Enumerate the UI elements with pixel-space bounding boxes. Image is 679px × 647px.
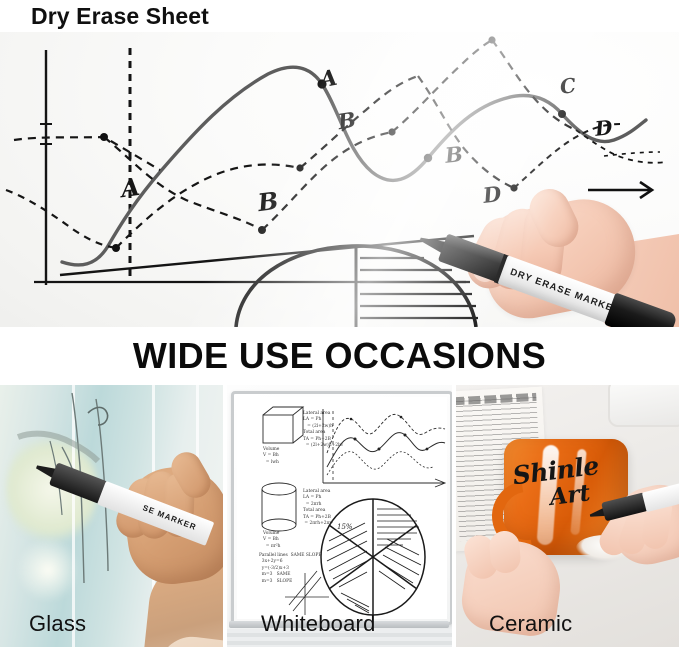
pie-slice-label: 15% [337, 523, 353, 531]
occasion-panel-whiteboard: Lateral area LA = Ph = (2l+2w)h Total ar… [227, 385, 452, 647]
occasion-panel-glass: SE MARKER Glass [0, 385, 223, 647]
section-heading-band: WIDE USE OCCASIONS [0, 327, 679, 385]
panel-label-glass: Glass [29, 611, 86, 637]
product-image-page: Dry Erase Sheet [0, 0, 679, 647]
panel-label-ceramic: Ceramic [489, 611, 572, 637]
occasion-panel-ceramic: Shinle Art MASS Ceramic [456, 385, 679, 647]
hero-label-c1: C [559, 75, 578, 97]
whiteboard-note-block-2: Lateral area LA = Ph = 2πrh Total area T… [303, 489, 333, 527]
panel-label-whiteboard: Whiteboard [261, 611, 376, 637]
whiteboard-surface: Lateral area LA = Ph = (2l+2w)h Total ar… [237, 397, 447, 619]
white-tray [608, 385, 679, 427]
hero-label-b3: B [444, 143, 464, 166]
hero-label-a2: A [318, 67, 339, 92]
finger-middle [489, 530, 522, 574]
hero-label-a1: A [119, 175, 141, 201]
whiteboard-note-volume-2: Volume V = Bh = πr²h [263, 531, 280, 550]
page-title: Dry Erase Sheet [31, 2, 209, 30]
whiteboard-note-parallel-lines: Parallel lines SAME SLOPE 3x+2y=6 y=(-3/… [259, 553, 322, 585]
whiteboard-frame: Lateral area LA = Ph = (2l+2w)h Total ar… [231, 391, 452, 625]
hero-whiteboard-photo: A A B B B C D D DRY ERASE MARKER [0, 32, 679, 327]
section-heading: WIDE USE OCCASIONS [0, 333, 679, 379]
hero-label-d2: D [594, 117, 613, 139]
whiteboard-note-block-1: Lateral area LA = Ph = (2l+2w)h Total ar… [303, 411, 343, 449]
hero-label-b2: B [336, 109, 357, 133]
occasions-panels: SE MARKER Glass [0, 385, 679, 647]
title-band: Dry Erase Sheet [0, 0, 679, 32]
hero-label-b1: B [257, 189, 280, 215]
whiteboard-note-volume-1: Volume V = Bh = lwh [263, 447, 279, 466]
